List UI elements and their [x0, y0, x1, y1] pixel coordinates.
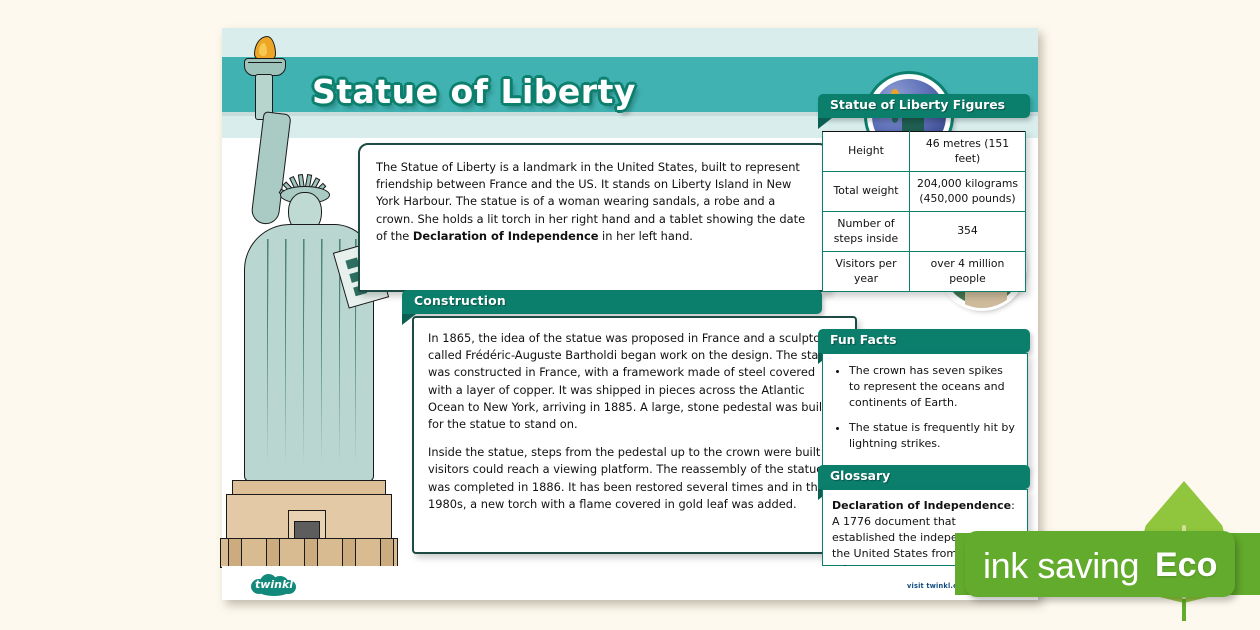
list-item: The statue is frequently hit by lightnin…	[849, 420, 1017, 452]
intro-term-declaration: Declaration of Independence	[413, 229, 599, 243]
construction-heading-banner: Construction	[402, 290, 822, 314]
construction-paragraph-2: Inside the statue, steps from the pedest…	[428, 444, 841, 513]
pedestal-door	[288, 510, 326, 540]
eco-badge-label-2: Eco	[1155, 546, 1217, 585]
table-row: Height 46 metres (151 feet)	[823, 132, 1026, 172]
table-row: Number of steps inside 354	[823, 212, 1026, 252]
construction-paragraph-1: In 1865, the idea of the statue was prop…	[428, 330, 841, 433]
figures-key: Total weight	[823, 172, 910, 212]
twinkl-logo-text: twinkl	[251, 574, 297, 596]
figures-value: 46 metres (151 feet)	[910, 132, 1026, 172]
screenshot-canvas: Statue of Liberty	[0, 0, 1260, 630]
figures-key: Height	[823, 132, 910, 172]
table-row: Total weight 204,000 kilograms (450,000 …	[823, 172, 1026, 212]
pedestal-post	[380, 538, 394, 568]
page-footer: twinkl visit twinkl.com	[222, 566, 1038, 600]
intro-part-3: in her left hand.	[598, 229, 693, 243]
figures-value: 204,000 kilograms (450,000 pounds)	[910, 172, 1026, 212]
figures-value: 354	[910, 212, 1026, 252]
twinkl-logo[interactable]: twinkl	[251, 574, 297, 596]
figures-heading: Statue of Liberty Figures	[818, 94, 1030, 112]
construction-body-card: In 1865, the idea of the statue was prop…	[412, 316, 857, 554]
pedestal-post	[304, 538, 318, 568]
introduction-card: The Statue of Liberty is a landmark in t…	[358, 143, 829, 292]
leaf-stem-lower-icon	[1182, 599, 1186, 621]
statue-illustration	[222, 28, 392, 568]
fun-facts-list: The crown has seven spikes to represent …	[823, 354, 1027, 452]
table-row: Visitors per year over 4 million people	[823, 252, 1026, 292]
pedestal-post	[266, 538, 280, 568]
figures-key: Visitors per year	[823, 252, 910, 292]
figures-key: Number of steps inside	[823, 212, 910, 252]
fun-facts-card: The crown has seven spikes to represent …	[822, 353, 1028, 469]
pedestal-post	[228, 538, 242, 568]
fun-facts-heading-banner: Fun Facts	[818, 329, 1030, 353]
figures-heading-banner: Statue of Liberty Figures	[818, 94, 1030, 118]
construction-heading: Construction	[402, 290, 822, 308]
worksheet-page: Statue of Liberty	[222, 28, 1038, 600]
eco-badge-label-1: ink saving	[983, 545, 1139, 587]
introduction-text: The Statue of Liberty is a landmark in t…	[360, 145, 827, 245]
figures-table: Height 46 metres (151 feet) Total weight…	[822, 131, 1026, 292]
fun-facts-heading: Fun Facts	[818, 329, 1030, 347]
eco-badge: ink saving Eco	[955, 473, 1260, 630]
figures-value: over 4 million people	[910, 252, 1026, 292]
pedestal-post	[342, 538, 356, 568]
list-item: The crown has seven spikes to represent …	[849, 363, 1017, 411]
